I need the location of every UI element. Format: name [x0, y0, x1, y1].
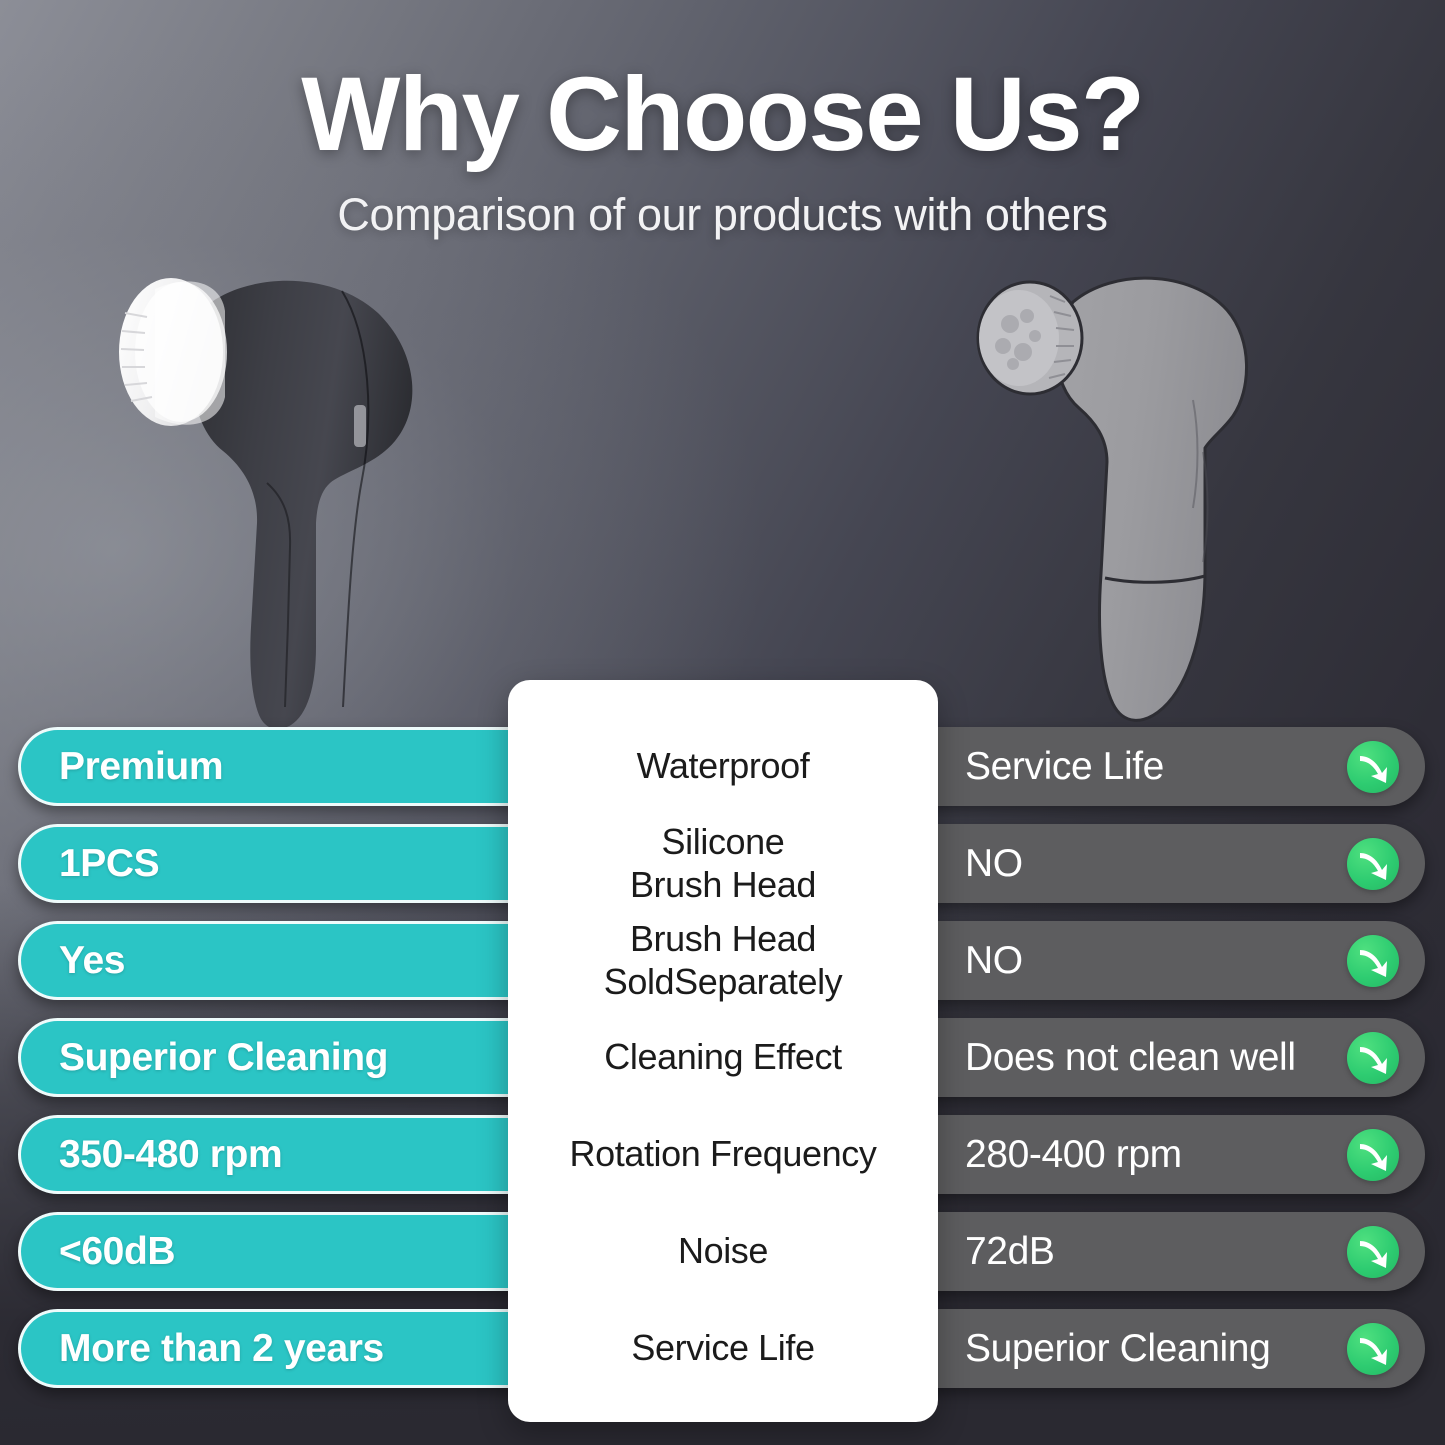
theirs-value: NO — [965, 842, 1023, 886]
theirs-value: Superior Cleaning — [965, 1327, 1270, 1371]
arrow-down-curved-icon — [1347, 1226, 1399, 1278]
page-title: Why Choose Us? — [0, 58, 1445, 171]
page-subtitle: Comparison of our products with others — [0, 189, 1445, 241]
theirs-value: 72dB — [965, 1230, 1054, 1274]
feature-label: Noise — [508, 1212, 938, 1291]
ours-value: Superior Cleaning — [59, 1036, 388, 1080]
arrow-down-curved-icon — [1347, 1032, 1399, 1084]
theirs-value: Does not clean well — [965, 1036, 1296, 1080]
theirs-value: NO — [965, 939, 1023, 983]
ours-value: 1PCS — [59, 842, 159, 886]
ours-value: More than 2 years — [59, 1327, 384, 1371]
feature-text: Cleaning Effect — [604, 1036, 842, 1078]
arrow-down-curved-icon — [1347, 1129, 1399, 1181]
feature-text: Rotation Frequency — [570, 1133, 877, 1175]
arrow-down-curved-icon — [1347, 935, 1399, 987]
feature-text: SiliconeBrush Head — [630, 821, 816, 905]
ours-value: <60dB — [59, 1230, 175, 1274]
feature-label: Waterproof — [508, 727, 938, 806]
feature-label: Brush HeadSoldSeparately — [508, 921, 938, 1000]
theirs-value: 280-400 rpm — [965, 1133, 1182, 1177]
ours-value: Yes — [59, 939, 125, 983]
product-image-competitor — [955, 262, 1285, 732]
theirs-value: Service Life — [965, 745, 1164, 789]
infographic-canvas: Why Choose Us? Comparison of our product… — [0, 0, 1445, 1445]
feature-label: Service Life — [508, 1309, 938, 1388]
feature-text: Noise — [678, 1230, 768, 1272]
feature-text: Service Life — [631, 1327, 814, 1369]
product-image-ours — [95, 255, 435, 735]
feature-label: SiliconeBrush Head — [508, 824, 938, 903]
arrow-down-curved-icon — [1347, 741, 1399, 793]
header: Why Choose Us? Comparison of our product… — [0, 58, 1445, 241]
ours-value: 350-480 rpm — [59, 1133, 282, 1177]
arrow-down-curved-icon — [1347, 1323, 1399, 1375]
arrow-down-curved-icon — [1347, 838, 1399, 890]
feature-label: Rotation Frequency — [508, 1115, 938, 1194]
feature-label-panel: Waterproof SiliconeBrush Head Brush Head… — [508, 680, 938, 1422]
feature-text: Waterproof — [637, 745, 810, 787]
ours-value: Premium — [59, 745, 223, 789]
feature-text: Brush HeadSoldSeparately — [604, 918, 843, 1002]
feature-label: Cleaning Effect — [508, 1018, 938, 1097]
